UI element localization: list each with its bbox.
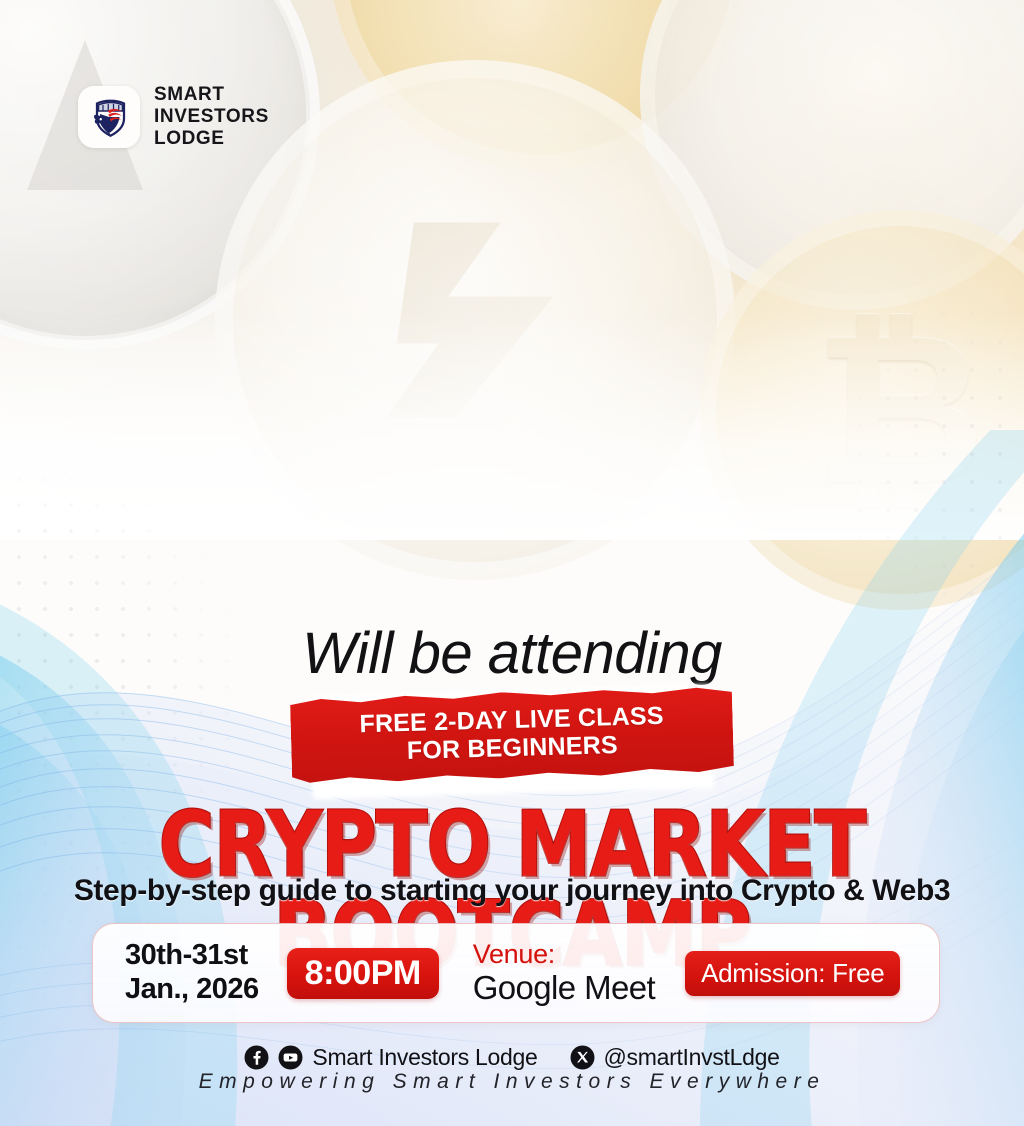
- bitcoin-coin-top-icon: [330, 0, 750, 170]
- event-date-line1: 30th-31st: [125, 939, 259, 973]
- event-venue: Venue: Google Meet: [473, 940, 655, 1006]
- ethereum-coin-icon: [0, 0, 320, 350]
- venue-value: Google Meet: [473, 970, 655, 1006]
- venue-label: Venue:: [473, 940, 655, 970]
- dash-coin-icon: [640, 0, 1024, 310]
- bitcoin-coin-icon: ₿: [700, 210, 1024, 610]
- x-twitter-icon[interactable]: [570, 1045, 595, 1070]
- facebook-icon[interactable]: [244, 1045, 269, 1070]
- event-date-line2: Jan., 2026: [125, 973, 259, 1007]
- brand-name-line3: LODGE: [154, 128, 269, 150]
- event-time-badge: 8:00PM: [287, 948, 439, 999]
- social-handle-primary: Smart Investors Lodge: [312, 1044, 537, 1071]
- brand-name: SMART INVESTORS LODGE: [154, 84, 269, 150]
- ribbon-text: FREE 2-DAY LIVE CLASS FOR BEGINNERS: [316, 701, 707, 768]
- litecoin-coin-icon: [215, 60, 735, 580]
- logo-badge: [78, 86, 140, 148]
- brand-name-line2: INVESTORS: [154, 106, 269, 128]
- flyer-canvas: ₿: [0, 0, 1024, 1126]
- event-details-card: 30th-31st Jan., 2026 8:00PM Venue: Googl…: [92, 923, 940, 1023]
- will-be-attending-text: Will be attending: [0, 620, 1024, 687]
- social-handles: Smart Investors Lodge @smartInvstLdge: [0, 1044, 1024, 1071]
- social-handle-x: @smartInvstLdge: [604, 1044, 780, 1071]
- admission-badge: Admission: Free: [685, 951, 900, 996]
- bull-shield-logo-icon: [85, 93, 133, 141]
- brand-tagline: Empowering Smart Investors Everywhere: [0, 1070, 1024, 1094]
- youtube-icon[interactable]: [278, 1045, 303, 1070]
- event-date: 30th-31st Jan., 2026: [125, 939, 259, 1006]
- event-subtitle: Step-by-step guide to starting your jour…: [0, 874, 1024, 908]
- brand-logo: SMART INVESTORS LODGE: [78, 84, 269, 150]
- brand-name-line1: SMART: [154, 84, 269, 106]
- crypto-coins-photo-backdrop: ₿: [0, 0, 1024, 540]
